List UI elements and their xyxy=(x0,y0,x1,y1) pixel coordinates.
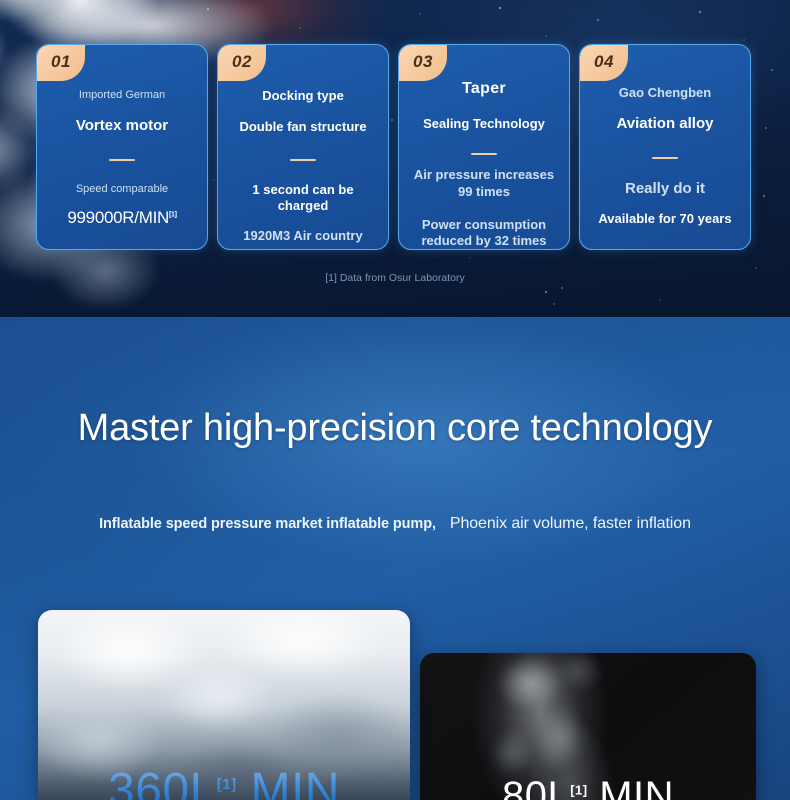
airflow-reference-primary: [1] xyxy=(217,776,237,793)
feature-card-list: 01 Imported German Vortex motor Speed co… xyxy=(0,44,790,250)
card-divider xyxy=(290,159,316,161)
subheadline-part-1: Inflatable speed pressure market inflata… xyxy=(99,516,436,532)
top-feature-section: 01 Imported German Vortex motor Speed co… xyxy=(0,0,790,317)
card-body: Taper Sealing Technology Air pressure in… xyxy=(399,45,569,249)
card-line-2: Aviation alloy xyxy=(588,115,742,134)
subheadline-part-2: Phoenix air volume, faster inflation xyxy=(450,515,691,532)
airflow-value-secondary: 80L xyxy=(502,774,570,800)
card-body: Gao Chengben Aviation alloy Really do it… xyxy=(580,45,750,227)
airflow-unit-primary: MIN xyxy=(250,764,339,800)
feature-card-04[interactable]: 04 Gao Chengben Aviation alloy Really do… xyxy=(579,44,751,250)
airflow-caption-secondary: 80L[1] MIN xyxy=(420,774,756,800)
card-line-2: Vortex motor xyxy=(45,117,199,136)
airflow-panel-primary[interactable]: 360L[1] MIN xyxy=(38,610,410,800)
card-line-3: Air pressure increases 99 times xyxy=(407,167,561,200)
card-divider xyxy=(471,153,497,155)
card-line-3: Speed comparable xyxy=(45,183,199,197)
card-line-2: Sealing Technology xyxy=(407,116,561,132)
card-divider xyxy=(109,159,135,161)
card-divider xyxy=(652,157,678,159)
card-line-4-value: 999000R/MIN xyxy=(67,208,169,227)
data-source-footnote: [1] Data from Osur Laboratory xyxy=(0,272,790,284)
card-line-1: Imported German xyxy=(45,89,199,103)
card-line-4: Available for 70 years xyxy=(588,211,742,227)
card-line-4: 1920M3 Air country xyxy=(226,228,380,244)
feature-card-03[interactable]: 03 Taper Sealing Technology Air pressure… xyxy=(398,44,570,250)
card-body: Docking type Double fan structure 1 seco… xyxy=(218,45,388,244)
airflow-value-primary: 360L xyxy=(108,764,217,800)
section-headline: Master high-precision core technology xyxy=(0,407,790,450)
card-line-3: Really do it xyxy=(588,180,742,199)
card-line-4-reference: [1] xyxy=(169,212,177,219)
card-line-1: Docking type xyxy=(226,88,380,104)
feature-card-01[interactable]: 01 Imported German Vortex motor Speed co… xyxy=(36,44,208,250)
card-line-2: Double fan structure xyxy=(226,119,380,135)
card-line-4: 999000R/MIN[1] xyxy=(45,207,199,228)
card-line-4: Power consumption reduced by 32 times xyxy=(407,217,561,250)
card-line-1: Taper xyxy=(407,79,561,99)
card-line-1: Gao Chengben xyxy=(588,85,742,101)
section-subheadline: Inflatable speed pressure market inflata… xyxy=(0,515,790,533)
airflow-caption-primary: 360L[1] MIN xyxy=(38,763,410,800)
airflow-unit-secondary: MIN xyxy=(599,774,674,800)
airflow-panel-secondary[interactable]: 80L[1] MIN xyxy=(420,653,756,800)
card-line-3: 1 second can be charged xyxy=(226,182,380,215)
feature-card-02[interactable]: 02 Docking type Double fan structure 1 s… xyxy=(217,44,389,250)
airflow-reference-secondary: [1] xyxy=(570,783,587,798)
card-body: Imported German Vortex motor Speed compa… xyxy=(37,45,207,229)
